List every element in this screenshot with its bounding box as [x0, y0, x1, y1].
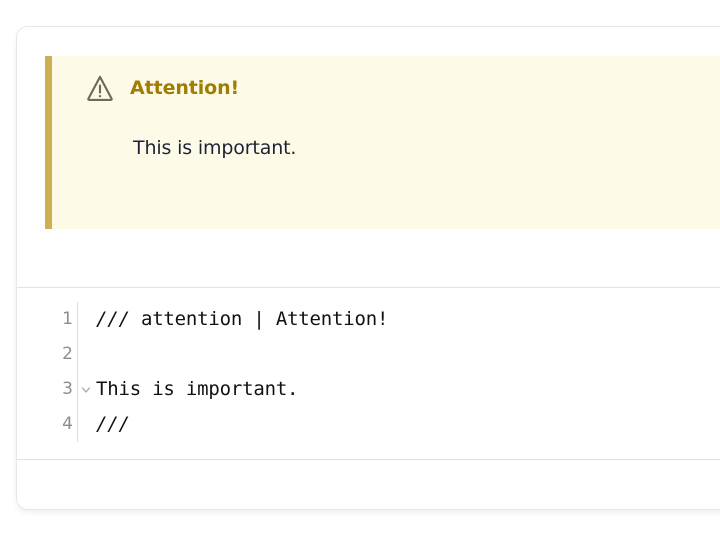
- gutter-row: 3: [17, 372, 77, 407]
- code-token: attention | Attention!: [130, 308, 389, 330]
- code-line[interactable]: /// attention | Attention!: [96, 302, 720, 337]
- source-code-pane[interactable]: 1 2 3 4 /// attention | Attention!: [17, 288, 720, 460]
- admonition-body-text: This is important.: [133, 137, 296, 159]
- code-line[interactable]: [96, 337, 720, 372]
- admonition-header: Attention!: [85, 73, 239, 103]
- code-line[interactable]: This is important.: [96, 372, 720, 407]
- admonition-example-card: Attention! This is important. 1 2 3: [16, 26, 720, 510]
- gutter-row: 4: [17, 407, 77, 442]
- chevron-down-icon[interactable]: [80, 384, 92, 396]
- code-grid: 1 2 3 4 /// attention | Attention!: [17, 302, 720, 442]
- code-token: ///: [96, 413, 130, 435]
- warning-triangle-icon: [85, 73, 115, 103]
- admonition-title: Attention!: [130, 77, 239, 99]
- gutter-row: 2: [17, 337, 77, 372]
- code-text-area[interactable]: /// attention | Attention! This is impor…: [78, 302, 720, 442]
- attention-admonition: Attention! This is important.: [45, 56, 720, 229]
- code-token: This is important.: [96, 378, 298, 400]
- rendered-preview-pane: Attention! This is important.: [17, 27, 720, 288]
- line-number: 2: [62, 346, 73, 363]
- code-line[interactable]: ///: [96, 407, 720, 442]
- line-number: 4: [62, 416, 73, 433]
- line-number: 3: [62, 381, 73, 398]
- line-number: 1: [62, 311, 73, 328]
- code-token: ///: [96, 308, 130, 330]
- card-footer: [17, 460, 720, 509]
- gutter-row: 1: [17, 302, 77, 337]
- line-number-gutter: 1 2 3 4: [17, 302, 78, 442]
